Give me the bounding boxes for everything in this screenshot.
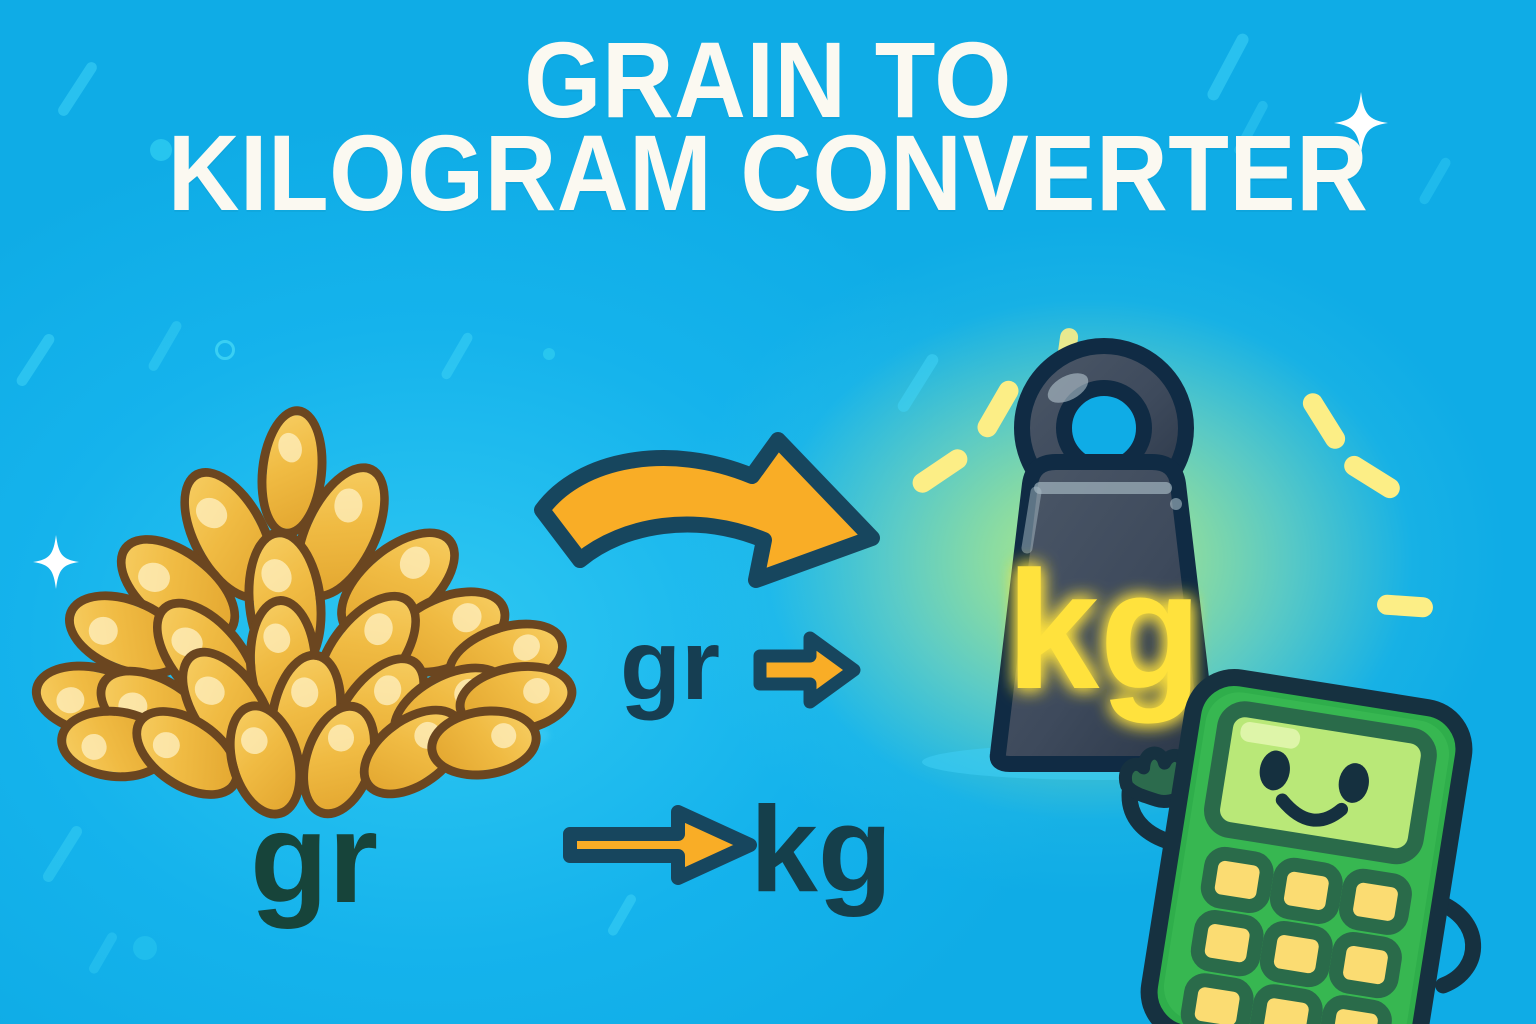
grain-unit-label-mid: gr: [620, 615, 720, 715]
decor-dash: [87, 931, 119, 976]
calculator-mascot-icon: [1110, 655, 1536, 1024]
decor-dash: [440, 331, 475, 381]
grain-unit-label-large: gr: [250, 795, 378, 923]
curved-arrow-icon: [520, 420, 920, 620]
decor-dot: [215, 340, 235, 360]
kilogram-unit-label-bottom: kg: [750, 788, 892, 910]
poster-canvas: GRAIN TO KILOGRAM CONVERTER: [0, 0, 1536, 1024]
grain-pile-icon: [40, 400, 580, 800]
glow-dash: [1376, 594, 1433, 618]
glow-dash: [1340, 452, 1403, 502]
decor-dash: [15, 332, 57, 388]
decor-dot: [543, 348, 555, 360]
page-title: GRAIN TO KILOGRAM CONVERTER: [0, 30, 1536, 223]
arrow-right-icon: [752, 630, 862, 710]
title-line-2: KILOGRAM CONVERTER: [61, 123, 1474, 222]
decor-dash: [147, 319, 184, 372]
decor-dash: [41, 824, 84, 884]
decor-dot: [133, 936, 157, 960]
decor-dash: [606, 893, 638, 938]
arrow-right-icon: [560, 800, 760, 890]
